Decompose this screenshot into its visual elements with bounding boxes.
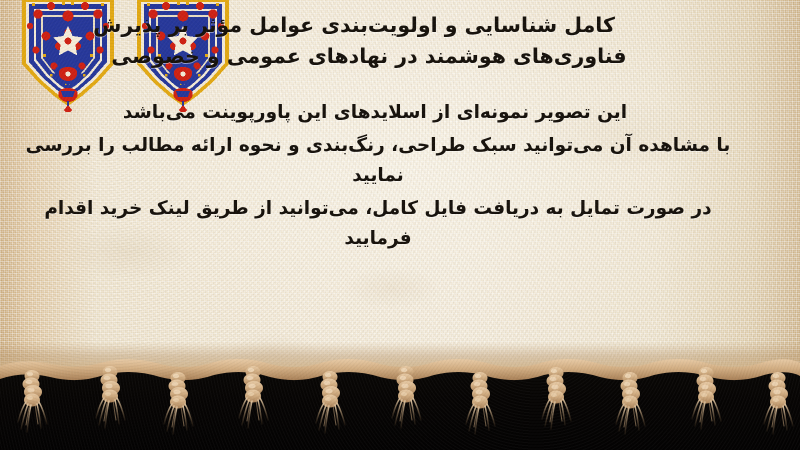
title-line-2: فناوری‌های هوشمند در نهادهای عمومی و خصو… (18, 41, 744, 72)
fringe-tassel (164, 372, 193, 434)
fringe-tassel (616, 372, 645, 434)
slide-canvas: کامل شناسایی و اولویت‌بندی عوامل مؤثر بر… (0, 0, 800, 450)
title-line-1: کامل شناسایی و اولویت‌بندی عوامل مؤثر بر… (18, 10, 744, 41)
fringe-tassel (764, 372, 793, 434)
body-line-3: در صورت تمایل به دریافت فایل کامل، می‌تو… (18, 194, 738, 254)
fringe-tassel (466, 372, 495, 434)
fringe-tassel (18, 370, 47, 432)
fringe-tassel (542, 367, 571, 429)
page-title: کامل شناسایی و اولویت‌بندی عوامل مؤثر بر… (18, 10, 744, 72)
body-text: این تصویر نمونه‌ای از اسلایدهای این پاور… (18, 98, 744, 254)
fringe-tassel (239, 366, 268, 428)
fringe-tassel (316, 371, 345, 433)
carpet-fringe (0, 350, 800, 450)
body-line-2: با مشاهده آن می‌توانید سبک طراحی، رنگ‌بن… (18, 131, 738, 191)
body-line-1: این تصویر نمونه‌ای از اسلایدهای این پاور… (18, 98, 738, 128)
